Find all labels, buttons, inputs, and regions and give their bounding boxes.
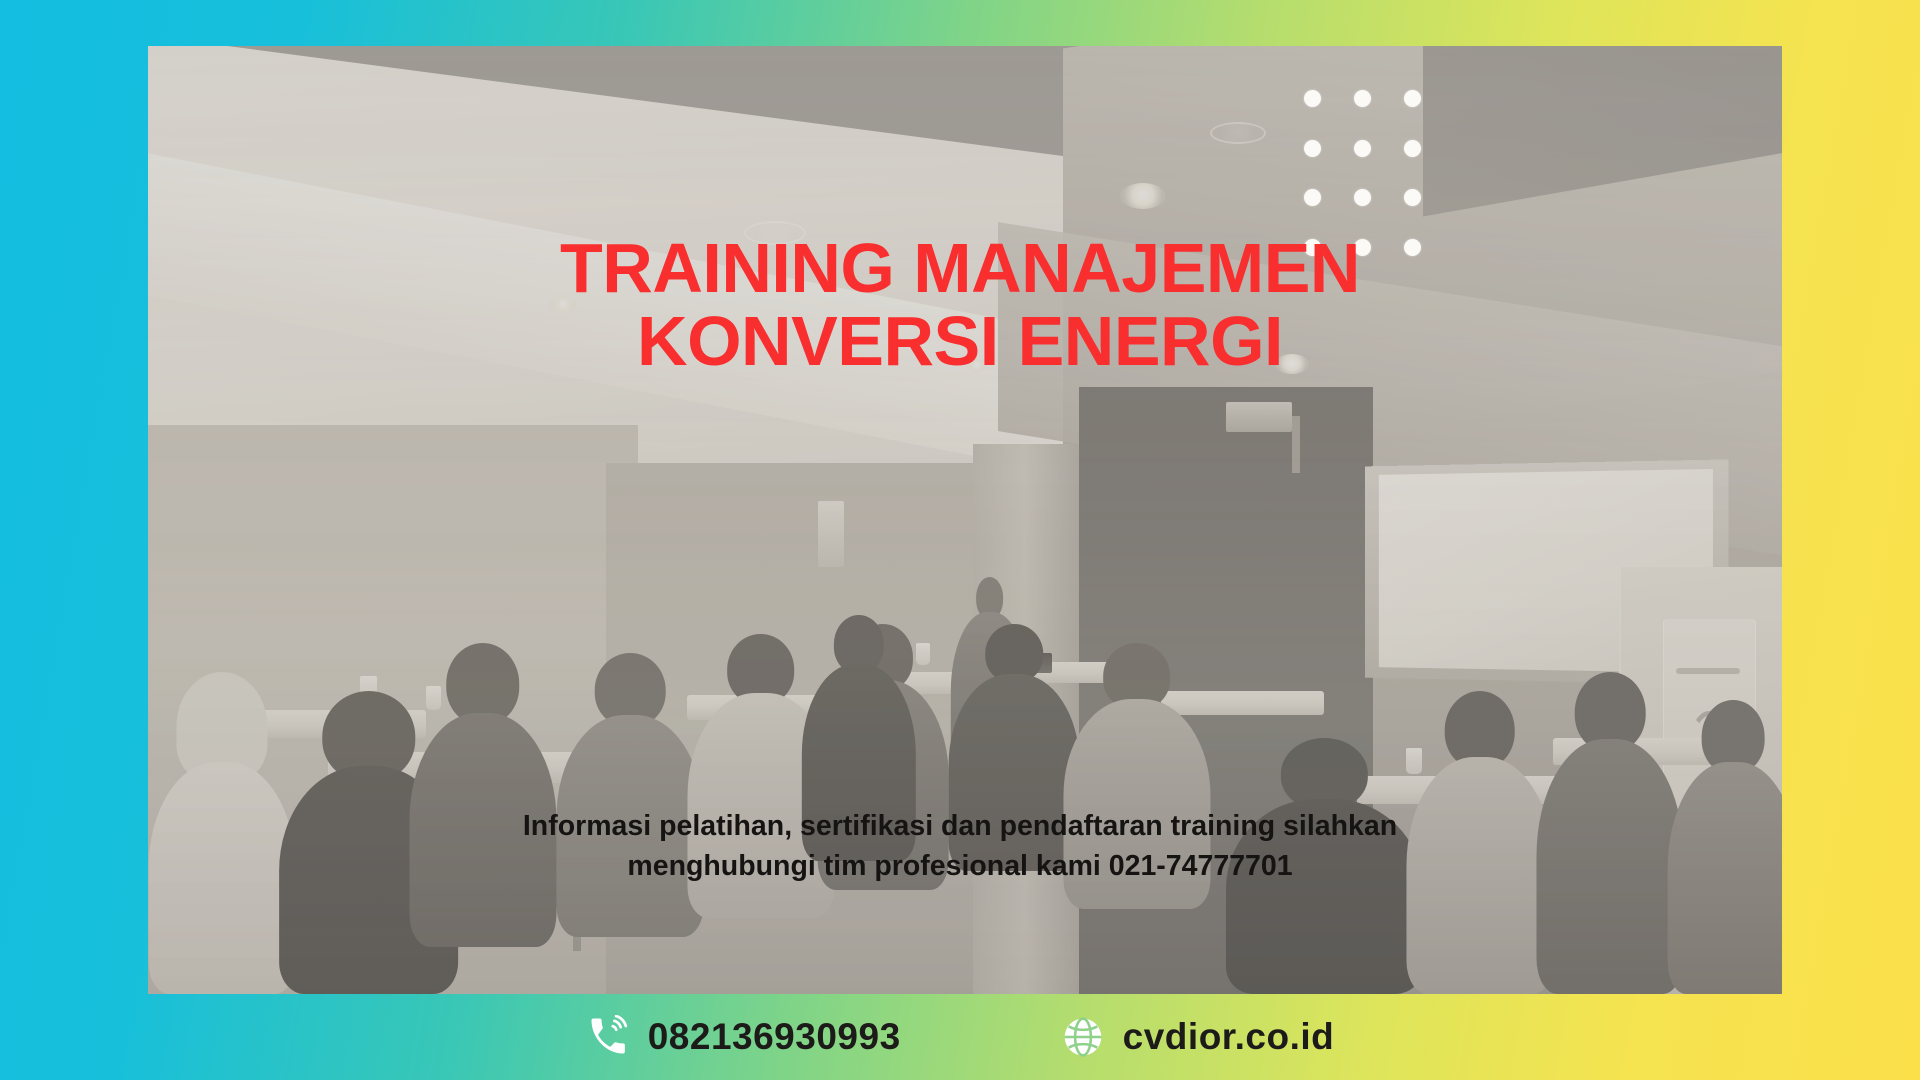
decorative-dot xyxy=(1304,189,1321,206)
decorative-dot xyxy=(1304,90,1321,107)
dot-cell xyxy=(1387,74,1437,124)
decorative-dot xyxy=(1354,140,1371,157)
subtitle-line-1: Informasi pelatihan, sertifikasi dan pen… xyxy=(180,806,1740,846)
globe-icon xyxy=(1061,1015,1105,1059)
poster-subtitle: Informasi pelatihan, sertifikasi dan pen… xyxy=(0,806,1920,887)
dot-cell xyxy=(1337,173,1387,223)
dot-cell xyxy=(1287,173,1337,223)
decorative-dot xyxy=(1404,140,1421,157)
dot-cell xyxy=(1387,124,1437,174)
contact-phone-number: 082136930993 xyxy=(648,1016,901,1058)
dot-cell xyxy=(1337,124,1387,174)
dot-cell xyxy=(1337,74,1387,124)
dot-cell xyxy=(1287,74,1337,124)
contact-website[interactable]: cvdior.co.id xyxy=(1061,1015,1335,1059)
phone-ringing-icon xyxy=(586,1015,630,1059)
footer-contact-bar: 082136930993 cvdior.co.id xyxy=(0,994,1920,1080)
poster-headline: TRAINING MANAJEMEN KONVERSI ENERGI xyxy=(0,232,1920,378)
dot-cell xyxy=(1287,124,1337,174)
decorative-dot xyxy=(1304,140,1321,157)
dot-cell xyxy=(1387,173,1437,223)
contact-website-url: cvdior.co.id xyxy=(1123,1016,1335,1058)
decorative-dot xyxy=(1404,189,1421,206)
headline-line-2: KONVERSI ENERGI xyxy=(60,305,1860,378)
decorative-dot xyxy=(1354,90,1371,107)
decorative-dot xyxy=(1404,90,1421,107)
decorative-dot xyxy=(1354,189,1371,206)
subtitle-line-2: menghubungi tim profesional kami 021-747… xyxy=(180,846,1740,886)
contact-phone[interactable]: 082136930993 xyxy=(586,1015,901,1059)
headline-line-1: TRAINING MANAJEMEN xyxy=(60,232,1860,305)
